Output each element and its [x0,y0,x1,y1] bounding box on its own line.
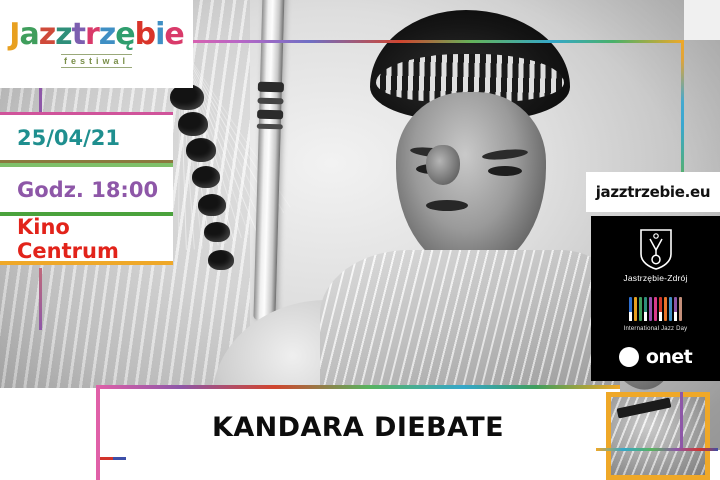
jazz-day-bar-2 [639,297,642,321]
info-rule-dual [0,160,173,167]
logo-letter-2: z [39,20,55,50]
festival-subtitle: festiwal [61,54,132,68]
artist-name: KANDARA DIEBATE [212,412,504,443]
jazz-day-bar-4 [649,297,652,321]
right-vertical-rule [681,40,684,177]
logo-letter-7: ę [115,20,134,50]
inset-vertical-accent [680,392,683,450]
top-rainbow-rule [178,40,684,43]
left-lower-accent-line [39,268,42,330]
logo-letter-6: z [99,20,115,50]
bottom-left-white-block [0,388,96,480]
artist-title-card: KANDARA DIEBATE [96,388,620,480]
event-date: 25/04/21 [0,115,173,160]
event-venue: Kino Centrum [0,216,173,261]
onet-logo[interactable]: onet [619,346,692,368]
top-right-backdrop [684,0,720,40]
jazz-day-bar-10 [679,297,682,321]
logo-letter-1: a [19,20,38,50]
event-info-card: 25/04/21 Godz. 18:00 Kino Centrum [0,112,173,265]
jazz-day-icon [629,295,682,321]
onet-dot-icon [619,347,639,367]
red-blue-accent-mark [100,457,126,460]
city-crest-icon [639,228,673,270]
jazz-day-label: International Jazz Day [624,326,688,332]
logo-letter-8: b [135,20,155,50]
logo-letter-4: t [72,20,85,50]
festival-wordmark: Jazztrzębie [9,20,183,50]
logo-letter-10: e [164,20,183,50]
jazz-day-bar-0 [629,297,632,321]
logo-letter-5: r [85,20,99,50]
jazz-day-bar-9 [674,297,677,321]
city-crest-label: Jastrzębie-Zdrój [623,273,687,283]
event-time: Godz. 18:00 [0,167,173,212]
jazz-day-bar-5 [654,297,657,321]
logo-letter-0: J [9,20,19,50]
poster-canvas: Jazztrzębie festiwal 25/04/21 Godz. 18:0… [0,0,720,480]
inset-horizontal-accent [596,448,718,451]
logo-letter-9: i [155,20,164,50]
website-card[interactable]: jazztrzebie.eu [586,172,720,212]
jazz-day-bar-1 [634,297,637,321]
website-url[interactable]: jazztrzebie.eu [596,183,711,201]
festival-logo-card: Jazztrzębie festiwal [0,0,193,88]
jazz-day-bar-7 [664,297,667,321]
title-left-pink-rule [96,385,100,480]
logo-letter-3: z [55,20,71,50]
title-top-rainbow-rule [96,385,620,389]
jazz-day-bar-3 [644,297,647,321]
left-upper-accent-line [39,88,42,114]
onet-wordmark: onet [646,346,692,368]
sponsor-panel: Jastrzębie-Zdrój International Jazz Day … [591,216,720,381]
inset-photo [606,392,710,480]
jazz-day-bar-6 [659,297,662,321]
jazz-day-bar-8 [669,297,672,321]
